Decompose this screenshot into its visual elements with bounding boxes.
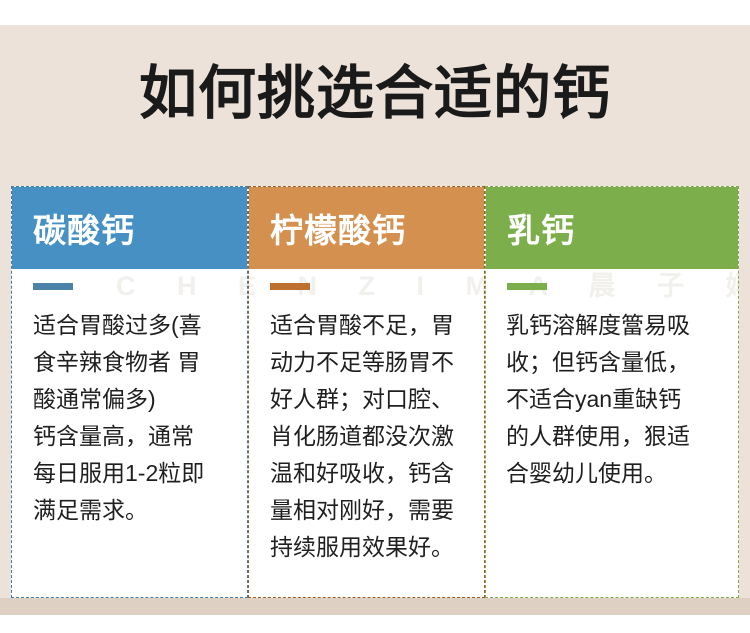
column-citrate: 柠檬酸钙 适合胃酸不足，胃 动力不足等肠胃不 好人群；对口腔、 肖化肠道都没次激… bbox=[248, 186, 485, 598]
comparison-card: C H E N Z I M A 晨 子 妈 碳酸钙 适合胃酸过多(喜 食辛辣食物… bbox=[11, 186, 739, 598]
column-body-citrate: 适合胃酸不足，胃 动力不足等肠胃不 好人群；对口腔、 肖化肠道都没次激 温和好吸… bbox=[249, 307, 484, 566]
background-band-shade bbox=[0, 598, 750, 615]
poster-root: 如何挑选合适的钙 C H E N Z I M A 晨 子 妈 碳酸钙 适合胃酸过… bbox=[0, 0, 750, 633]
divider-dash-citrate bbox=[270, 283, 310, 290]
column-carbonate: 碳酸钙 适合胃酸过多(喜 食辛辣食物者 胃 酸通常偏多) 钙含量高，通常 每日服… bbox=[11, 186, 248, 598]
comparison-columns: 碳酸钙 适合胃酸过多(喜 食辛辣食物者 胃 酸通常偏多) 钙含量高，通常 每日服… bbox=[11, 186, 739, 598]
column-header-milk-calcium: 乳钙 bbox=[486, 187, 738, 269]
column-body-milk-calcium: 乳钙溶解度簹易吸 收；但钙含量低， 不适合yan重缺钙 的人群使用，狠适 合婴幼… bbox=[486, 307, 738, 492]
column-milk-calcium: 乳钙 乳钙溶解度簹易吸 收；但钙含量低， 不适合yan重缺钙 的人群使用，狠适 … bbox=[485, 186, 739, 598]
column-header-citrate: 柠檬酸钙 bbox=[249, 187, 484, 269]
divider-dash-carbonate bbox=[33, 283, 73, 290]
divider-dash-milk-calcium bbox=[507, 283, 547, 290]
column-header-carbonate: 碳酸钙 bbox=[12, 187, 247, 269]
column-body-carbonate: 适合胃酸过多(喜 食辛辣食物者 胃 酸通常偏多) 钙含量高，通常 每日服用1-2… bbox=[12, 307, 247, 529]
page-title: 如何挑选合适的钙 bbox=[0, 58, 750, 130]
